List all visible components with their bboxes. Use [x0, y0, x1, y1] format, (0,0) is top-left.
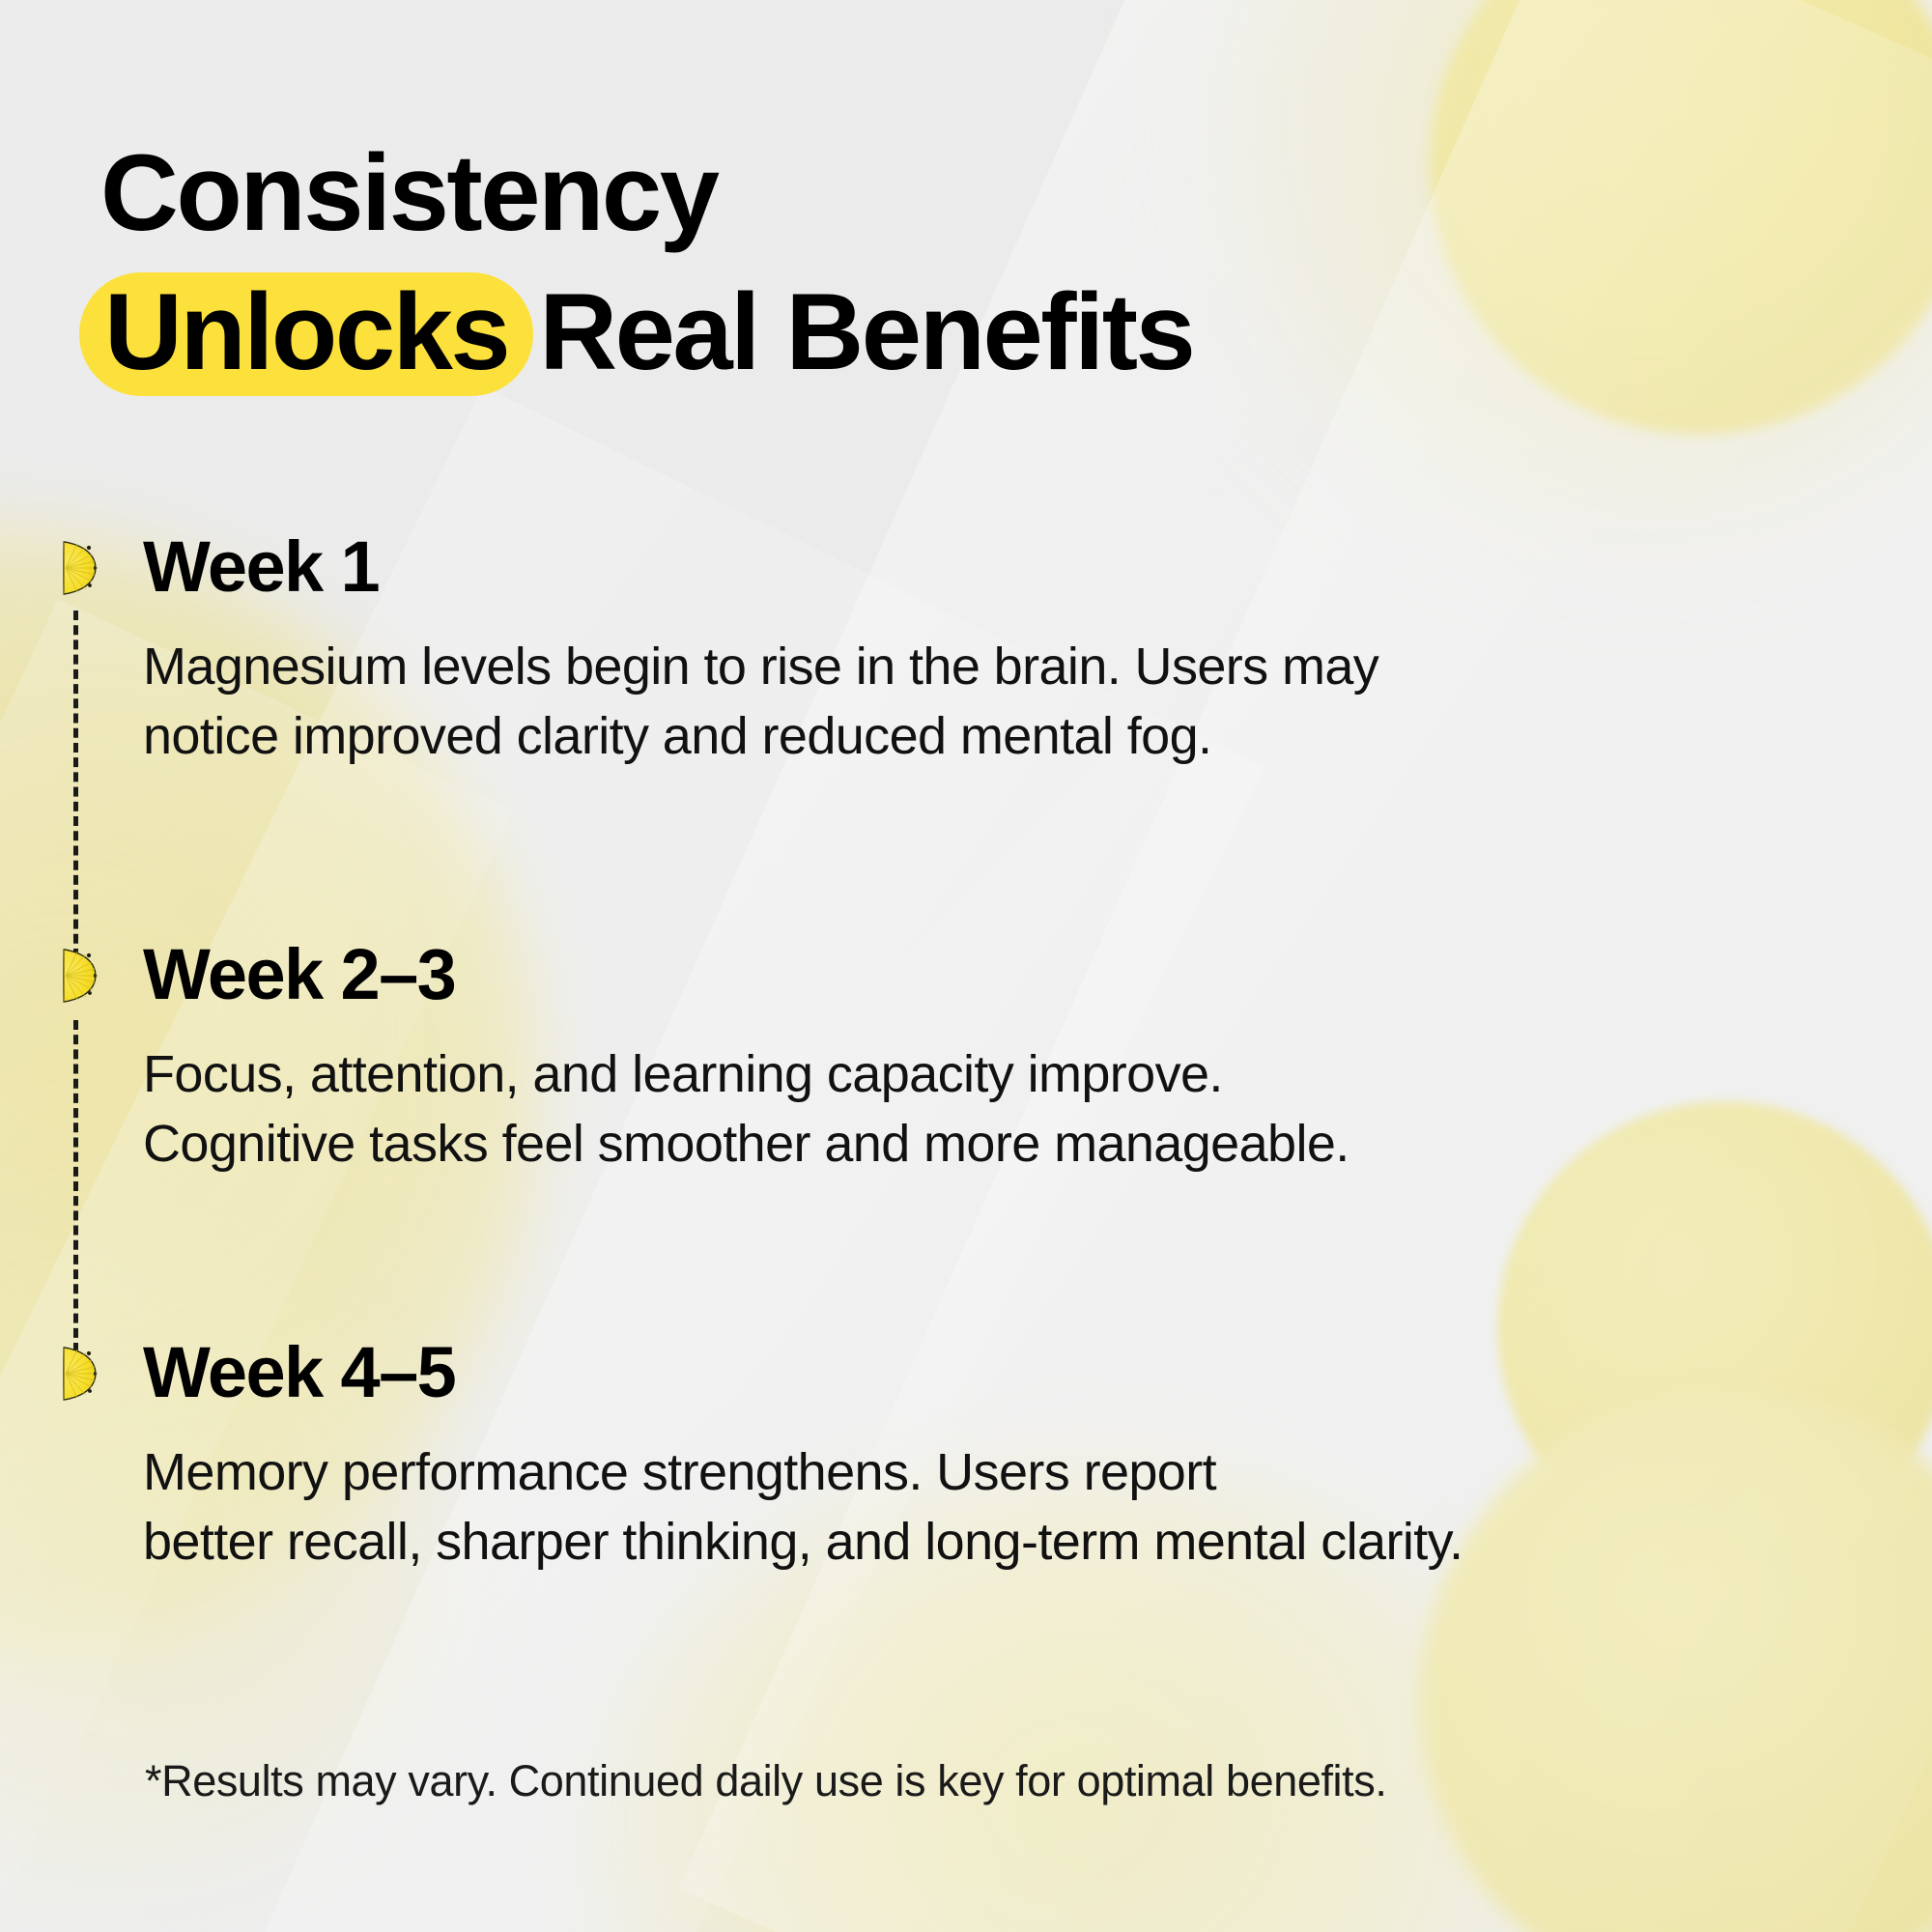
lemon-half-icon — [58, 1345, 99, 1403]
timeline: Week 1 Magnesium levels begin to rise in… — [0, 0, 1932, 1932]
step-heading: Week 1 — [143, 531, 379, 603]
step-heading: Week 4–5 — [143, 1337, 455, 1408]
step-heading: Week 2–3 — [143, 939, 455, 1010]
lemon-half-icon — [58, 539, 99, 597]
lemon-half-icon — [58, 947, 99, 1005]
timeline-dashed-connector-1 — [73, 611, 78, 958]
infographic-poster: Consistency UnlocksReal Benefits — [0, 0, 1932, 1932]
step-body: Focus, attention, and learning capacity … — [143, 1040, 1785, 1179]
footnote-disclaimer: *Results may vary. Continued daily use i… — [145, 1756, 1386, 1806]
timeline-dashed-connector-2 — [73, 1020, 78, 1352]
step-body: Magnesium levels begin to rise in the br… — [143, 633, 1785, 772]
step-body: Memory performance strengthens. Users re… — [143, 1438, 1785, 1577]
